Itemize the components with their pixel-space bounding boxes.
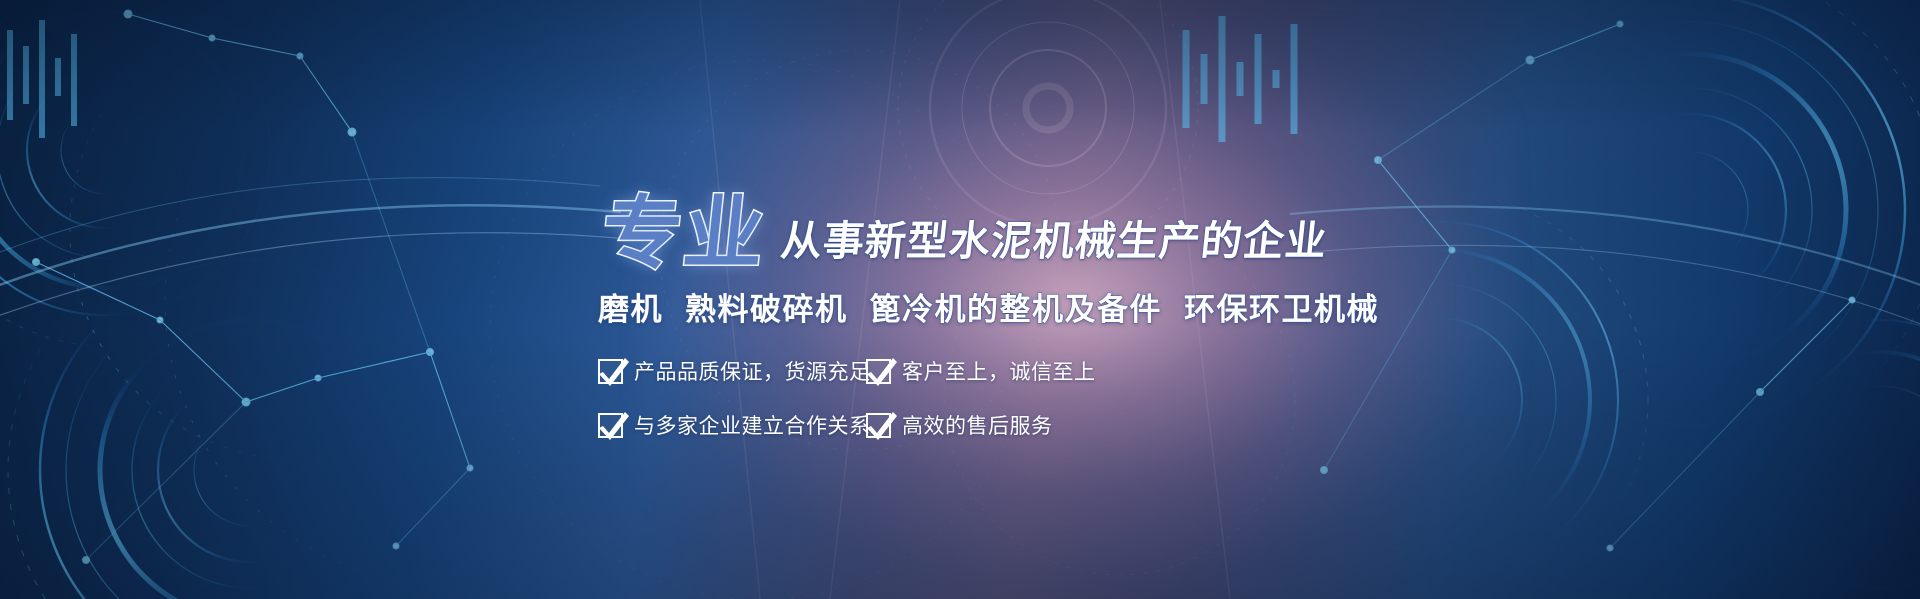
product-item-4: 环保环卫机械: [1184, 292, 1379, 328]
feature-label: 产品品质保证，货源充足: [634, 356, 871, 386]
checkmark-icon: [866, 413, 891, 438]
product-subline: 磨机熟料破碎机篦冷机的整机及备件环保环卫机械: [598, 284, 1379, 329]
checkmark-icon: [866, 359, 891, 384]
feature-row-2: 与多家企业建立合作关系 高效的售后服务: [598, 398, 1158, 452]
product-item-3: 篦冷机的整机及备件: [870, 292, 1163, 328]
feature-item: 高效的售后服务: [866, 410, 1053, 440]
feature-label: 高效的售后服务: [902, 410, 1053, 440]
checkmark-icon: [598, 413, 623, 438]
banner-content: 专业 从事新型水泥机械生产的企业 磨机熟料破碎机篦冷机的整机及备件环保环卫机械 …: [0, 0, 1920, 599]
feature-row-1: 产品品质保证，货源充足 客户至上，诚信至上: [598, 344, 1158, 398]
feature-item: 与多家企业建立合作关系: [598, 410, 866, 440]
feature-list: 产品品质保证，货源充足 客户至上，诚信至上: [598, 344, 1158, 452]
feature-label: 与多家企业建立合作关系: [634, 410, 871, 440]
feature-item: 产品品质保证，货源充足: [598, 356, 866, 386]
headline: 专业 从事新型水泥机械生产的企业: [598, 196, 1324, 271]
product-item-1: 磨机: [598, 292, 663, 328]
feature-item: 客户至上，诚信至上: [866, 356, 1096, 386]
feature-label: 客户至上，诚信至上: [902, 356, 1096, 386]
hero-banner: 专业 从事新型水泥机械生产的企业 磨机熟料破碎机篦冷机的整机及备件环保环卫机械 …: [0, 0, 1920, 599]
product-item-2: 熟料破碎机: [685, 292, 848, 328]
headline-emphasis: 专业: [598, 196, 770, 271]
headline-rest: 从事新型水泥机械生产的企业: [778, 207, 1331, 271]
checkmark-icon: [598, 359, 623, 384]
